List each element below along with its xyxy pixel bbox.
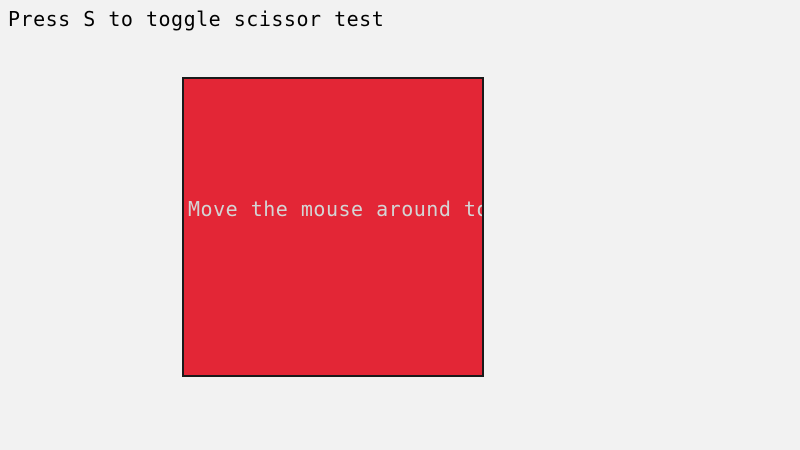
scissor-region[interactable]: Move the mouse around to reveal the scis… <box>182 77 484 377</box>
app-canvas[interactable]: Press S to toggle scissor test Move the … <box>0 0 800 450</box>
scissor-toggle-hint: Press S to toggle scissor test <box>8 8 384 30</box>
scissor-region-message: Move the mouse around to reveal the scis… <box>188 198 484 220</box>
